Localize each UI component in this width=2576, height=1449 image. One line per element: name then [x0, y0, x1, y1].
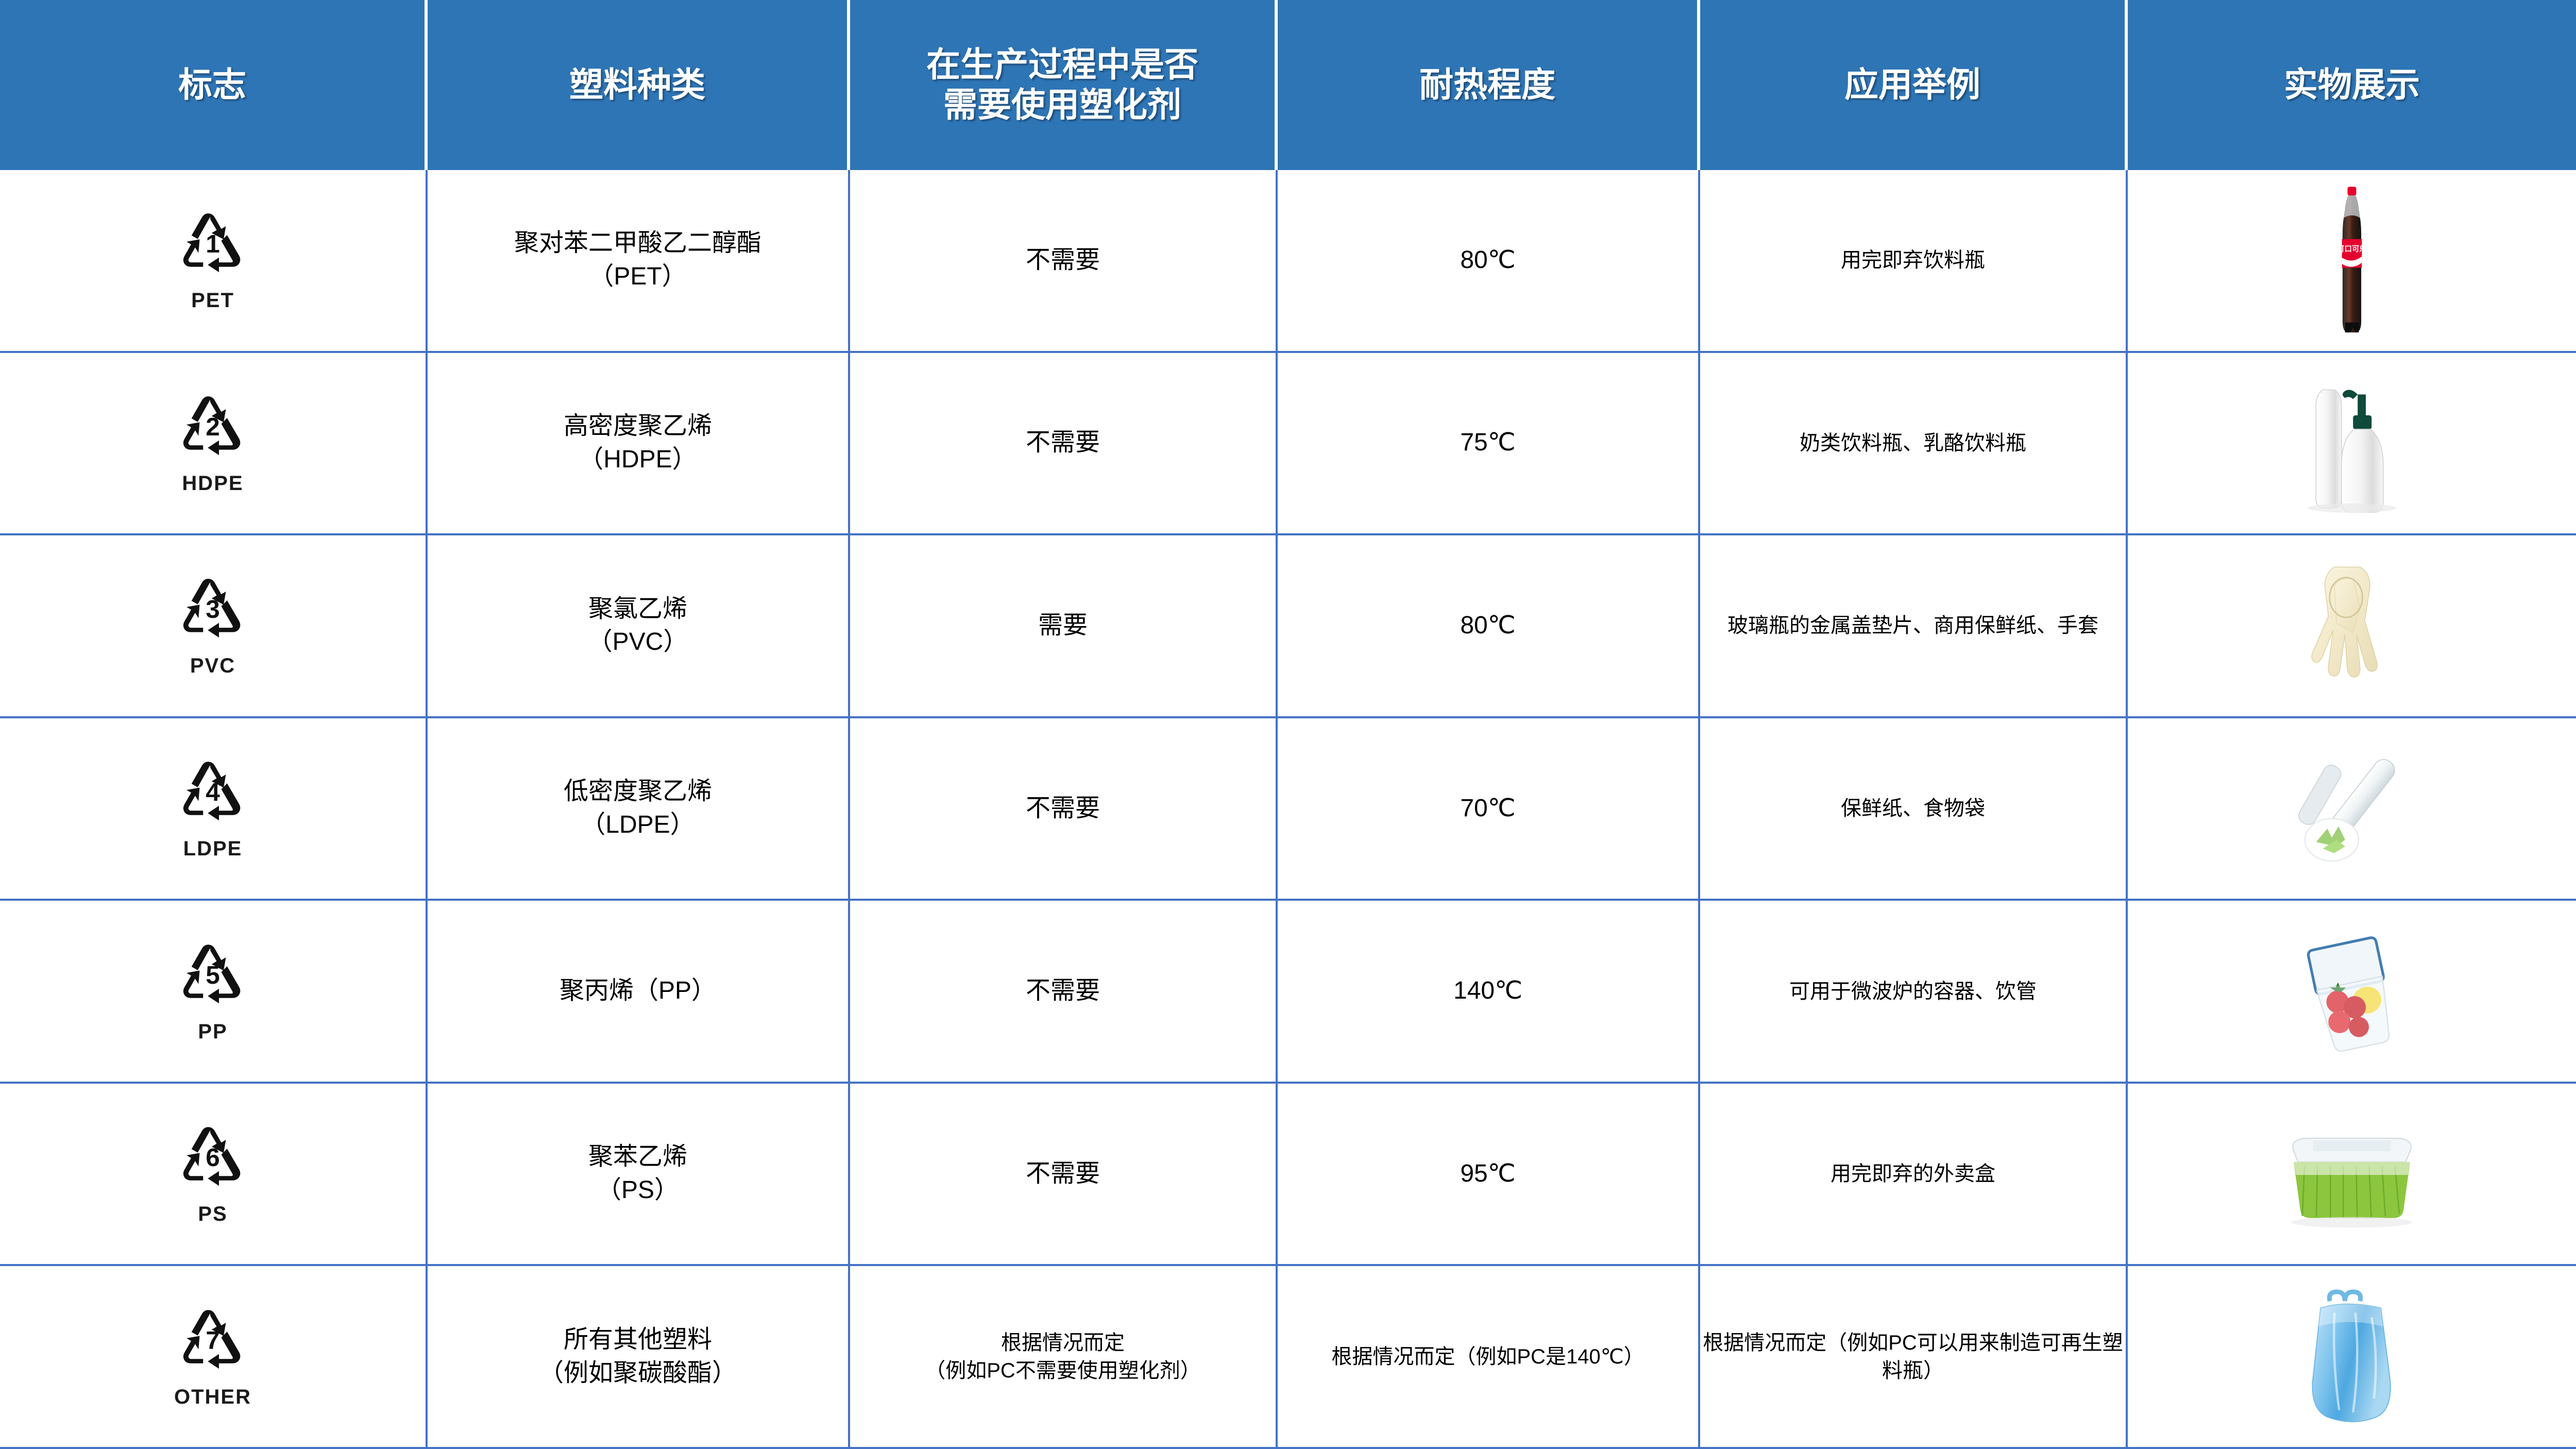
cell-application: 保鲜纸、食物袋 — [1700, 718, 2128, 899]
column-header-plastic-type: 塑料种类 — [428, 0, 850, 170]
cell-product-photo — [2128, 901, 2576, 1082]
cell-plastic-type-text: 聚丙烯（PP） — [560, 974, 716, 1008]
cell-recycling-mark: 4 LDPE — [0, 718, 428, 899]
cell-plasticizer-text: 不需要 — [1026, 792, 1100, 825]
recycling-symbol-icon: 4 LDPE — [174, 754, 251, 863]
cell-application-text: 玻璃瓶的金属盖垫片、商用保鲜纸、手套 — [1727, 612, 2098, 639]
column-header-mark-label: 标志 — [178, 65, 246, 105]
recycling-symbol-icon: 2 HDPE — [174, 389, 251, 497]
cell-heat-resistance-text: 80℃ — [1460, 244, 1515, 277]
cell-plastic-type: 所有其他塑料 （例如聚碳酸酯） — [428, 1266, 850, 1447]
column-header-plasticizer: 在生产过程中是否 需要使用塑化剂 — [850, 0, 1278, 170]
column-header-heat-label: 耐热程度 — [1419, 65, 1555, 105]
cell-heat-resistance: 75℃ — [1278, 353, 1700, 534]
cell-application-text: 用完即弃的外卖盒 — [1831, 1160, 1995, 1188]
recycling-mark-label: PET — [191, 287, 234, 314]
cell-heat-resistance-text: 70℃ — [1460, 792, 1515, 825]
cell-plastic-type-text: 所有其他塑料 （例如聚碳酸酯） — [539, 1323, 737, 1390]
cell-heat-resistance: 140℃ — [1278, 901, 1700, 1082]
cell-plasticizer: 不需要 — [850, 718, 1278, 899]
cell-plastic-type-text: 聚氯乙烯 （PVC） — [588, 593, 688, 660]
mobius-triangle: 3 — [174, 571, 251, 649]
mobius-triangle: 4 — [174, 754, 251, 832]
cell-product-photo — [2128, 718, 2576, 899]
table-header-row: 标志 塑料种类 在生产过程中是否 需要使用塑化剂 耐热程度 应用举例 实物展示 — [0, 0, 2576, 170]
recycling-mark-label: LDPE — [183, 835, 243, 863]
cell-plasticizer-text: 需要 — [1038, 609, 1088, 643]
cell-plastic-type: 高密度聚乙烯 （HDPE） — [428, 353, 850, 534]
takeaway-box-illustration — [2275, 1115, 2429, 1233]
cell-recycling-mark: 1 PET — [0, 170, 428, 351]
mobius-triangle: 2 — [174, 389, 251, 466]
cell-plastic-type-text: 低密度聚乙烯 （LDPE） — [564, 775, 712, 842]
cell-plasticizer: 根据情况而定 （例如PC不需要使用塑化剂） — [850, 1266, 1278, 1447]
cling-film-roll-image — [2135, 721, 2569, 896]
cell-plasticizer-text: 不需要 — [1026, 426, 1100, 460]
cell-product-photo — [2128, 1084, 2576, 1265]
recycling-mark-label: PS — [198, 1200, 227, 1228]
cling-film-roll-illustration — [2285, 742, 2419, 875]
cell-heat-resistance-text: 95℃ — [1460, 1157, 1515, 1191]
cell-plastic-type: 聚氯乙烯 （PVC） — [428, 535, 850, 716]
table-row: 4 LDPE低密度聚乙烯 （LDPE）不需要70℃保鲜纸、食物袋 — [0, 718, 2576, 901]
recycling-symbol-icon: 1 PET — [174, 206, 251, 314]
plastic-recycling-table: 标志 塑料种类 在生产过程中是否 需要使用塑化剂 耐热程度 应用举例 实物展示 … — [0, 0, 2576, 1449]
cell-recycling-mark: 3 PVC — [0, 535, 428, 716]
table-row: 2 HDPE高密度聚乙烯 （HDPE）不需要75℃奶类饮料瓶、乳酪饮料瓶 — [0, 353, 2576, 536]
recycling-mark-label: PVC — [190, 652, 235, 680]
table-row: 3 PVC聚氯乙烯 （PVC）需要80℃玻璃瓶的金属盖垫片、商用保鲜纸、手套 — [0, 535, 2576, 718]
cell-application: 用完即弃饮料瓶 — [1700, 170, 2128, 351]
cell-recycling-mark: 2 HDPE — [0, 353, 428, 534]
column-header-application: 应用举例 — [1700, 0, 2128, 170]
table-row: 6 PS聚苯乙烯 （PS）不需要95℃用完即弃的外卖盒 — [0, 1084, 2576, 1267]
column-header-mark: 标志 — [0, 0, 428, 170]
column-header-photo-label: 实物展示 — [2284, 65, 2420, 105]
cell-plasticizer: 不需要 — [850, 170, 1278, 351]
recycling-symbol-icon: 6 PS — [174, 1120, 251, 1228]
cell-product-photo — [2128, 1266, 2576, 1447]
cell-heat-resistance: 80℃ — [1278, 535, 1700, 716]
cell-application-text: 根据情况而定（例如PC可以用来制造可再生塑料瓶） — [1702, 1329, 2124, 1385]
cell-plasticizer: 需要 — [850, 535, 1278, 716]
cell-plasticizer: 不需要 — [850, 1084, 1278, 1265]
table-row: 5 PP聚丙烯（PP）不需要140℃可用于微波炉的容器、饮管 — [0, 901, 2576, 1084]
mobius-triangle: 7 — [174, 1303, 251, 1380]
cell-application: 奶类饮料瓶、乳酪饮料瓶 — [1700, 353, 2128, 534]
cell-application: 根据情况而定（例如PC可以用来制造可再生塑料瓶） — [1700, 1266, 2128, 1447]
blue-plastic-bag-image — [2135, 1269, 2569, 1444]
cell-product-photo — [2128, 535, 2576, 716]
cell-heat-resistance-text: 75℃ — [1460, 426, 1515, 460]
column-header-plasticizer-label: 在生产过程中是否 需要使用塑化剂 — [926, 45, 1198, 125]
cell-plasticizer: 不需要 — [850, 353, 1278, 534]
plastic-bag-illustration — [2287, 1287, 2416, 1426]
column-header-plastic-type-label: 塑料种类 — [569, 65, 705, 105]
cell-plastic-type-text: 聚苯乙烯 （PS） — [588, 1140, 687, 1207]
cell-product-photo: 可口可乐 — [2128, 170, 2576, 351]
cell-application: 用完即弃的外卖盒 — [1700, 1084, 2128, 1265]
mobius-triangle: 6 — [174, 1120, 251, 1197]
cell-plasticizer-text: 根据情况而定 （例如PC不需要使用塑化剂） — [925, 1329, 1201, 1385]
svg-text:3: 3 — [206, 595, 220, 624]
white-bottles-illustration — [2287, 374, 2416, 513]
cell-plastic-type: 聚对苯二甲酸乙二醇酯 （PET） — [428, 170, 850, 351]
latex-gloves-image — [2135, 538, 2569, 713]
cell-plasticizer: 不需要 — [850, 901, 1278, 1082]
cell-product-photo — [2128, 353, 2576, 534]
cell-heat-resistance-text: 80℃ — [1460, 609, 1515, 643]
cell-plastic-type-text: 聚对苯二甲酸乙二醇酯 （PET） — [514, 227, 761, 294]
takeaway-box-image — [2135, 1087, 2569, 1261]
cell-recycling-mark: 7 OTHER — [0, 1266, 428, 1447]
recycling-mark-label: HDPE — [182, 469, 243, 497]
cell-heat-resistance: 80℃ — [1278, 170, 1700, 351]
cell-heat-resistance-text: 140℃ — [1453, 974, 1522, 1008]
cell-application-text: 用完即弃饮料瓶 — [1841, 246, 1985, 274]
svg-text:2: 2 — [206, 413, 220, 441]
cell-application-text: 保鲜纸、食物袋 — [1841, 795, 1985, 822]
svg-text:7: 7 — [206, 1326, 220, 1355]
cell-heat-resistance: 70℃ — [1278, 718, 1700, 899]
svg-text:可口可乐: 可口可乐 — [2337, 244, 2367, 254]
recycling-mark-label: PP — [198, 1018, 227, 1046]
cell-application: 玻璃瓶的金属盖垫片、商用保鲜纸、手套 — [1700, 535, 2128, 716]
cell-plastic-type: 低密度聚乙烯 （LDPE） — [428, 718, 850, 899]
cell-application-text: 奶类饮料瓶、乳酪饮料瓶 — [1800, 429, 2026, 457]
cell-recycling-mark: 6 PS — [0, 1084, 428, 1265]
column-header-photo: 实物展示 — [2128, 0, 2576, 170]
cola-bottle-image: 可口可乐 — [2135, 173, 2569, 348]
column-header-heat: 耐热程度 — [1278, 0, 1700, 170]
recycling-mark-label: OTHER — [174, 1383, 251, 1411]
cell-application: 可用于微波炉的容器、饮管 — [1700, 901, 2128, 1082]
food-container-tomatoes-image — [2135, 904, 2569, 1079]
white-bottles-image — [2135, 356, 2569, 531]
svg-text:4: 4 — [206, 778, 220, 806]
mobius-triangle: 5 — [174, 937, 251, 1015]
recycling-symbol-icon: 5 PP — [174, 937, 251, 1046]
column-header-application-label: 应用举例 — [1844, 65, 1980, 105]
cell-plastic-type: 聚丙烯（PP） — [428, 901, 850, 1082]
cell-plasticizer-text: 不需要 — [1026, 244, 1100, 277]
svg-text:1: 1 — [206, 230, 220, 258]
cell-plasticizer-text: 不需要 — [1026, 1157, 1100, 1191]
recycling-symbol-icon: 3 PVC — [174, 571, 251, 680]
cell-plastic-type-text: 高密度聚乙烯 （HDPE） — [564, 410, 712, 477]
table-row: 1 PET聚对苯二甲酸乙二醇酯 （PET）不需要80℃用完即弃饮料瓶 可口可乐 — [0, 170, 2576, 353]
latex-gloves-illustration — [2287, 553, 2416, 698]
svg-text:5: 5 — [206, 961, 220, 989]
cell-plastic-type: 聚苯乙烯 （PS） — [428, 1084, 850, 1265]
cola-bottle-illustration: 可口可乐 — [2298, 186, 2406, 335]
mobius-triangle: 1 — [174, 206, 251, 283]
cell-heat-resistance: 根据情况而定（例如PC是140℃） — [1278, 1266, 1700, 1447]
table-row: 7 OTHER所有其他塑料 （例如聚碳酸酯）根据情况而定 （例如PC不需要使用塑… — [0, 1266, 2576, 1449]
food-container-illustration — [2285, 927, 2419, 1056]
recycling-symbol-icon: 7 OTHER — [174, 1303, 251, 1411]
cell-plasticizer-text: 不需要 — [1026, 974, 1100, 1008]
cell-recycling-mark: 5 PP — [0, 901, 428, 1082]
svg-text:6: 6 — [206, 1143, 220, 1172]
cell-heat-resistance: 95℃ — [1278, 1084, 1700, 1265]
cell-application-text: 可用于微波炉的容器、饮管 — [1789, 978, 2037, 1005]
cell-heat-resistance-text: 根据情况而定（例如PC是140℃） — [1331, 1343, 1644, 1371]
